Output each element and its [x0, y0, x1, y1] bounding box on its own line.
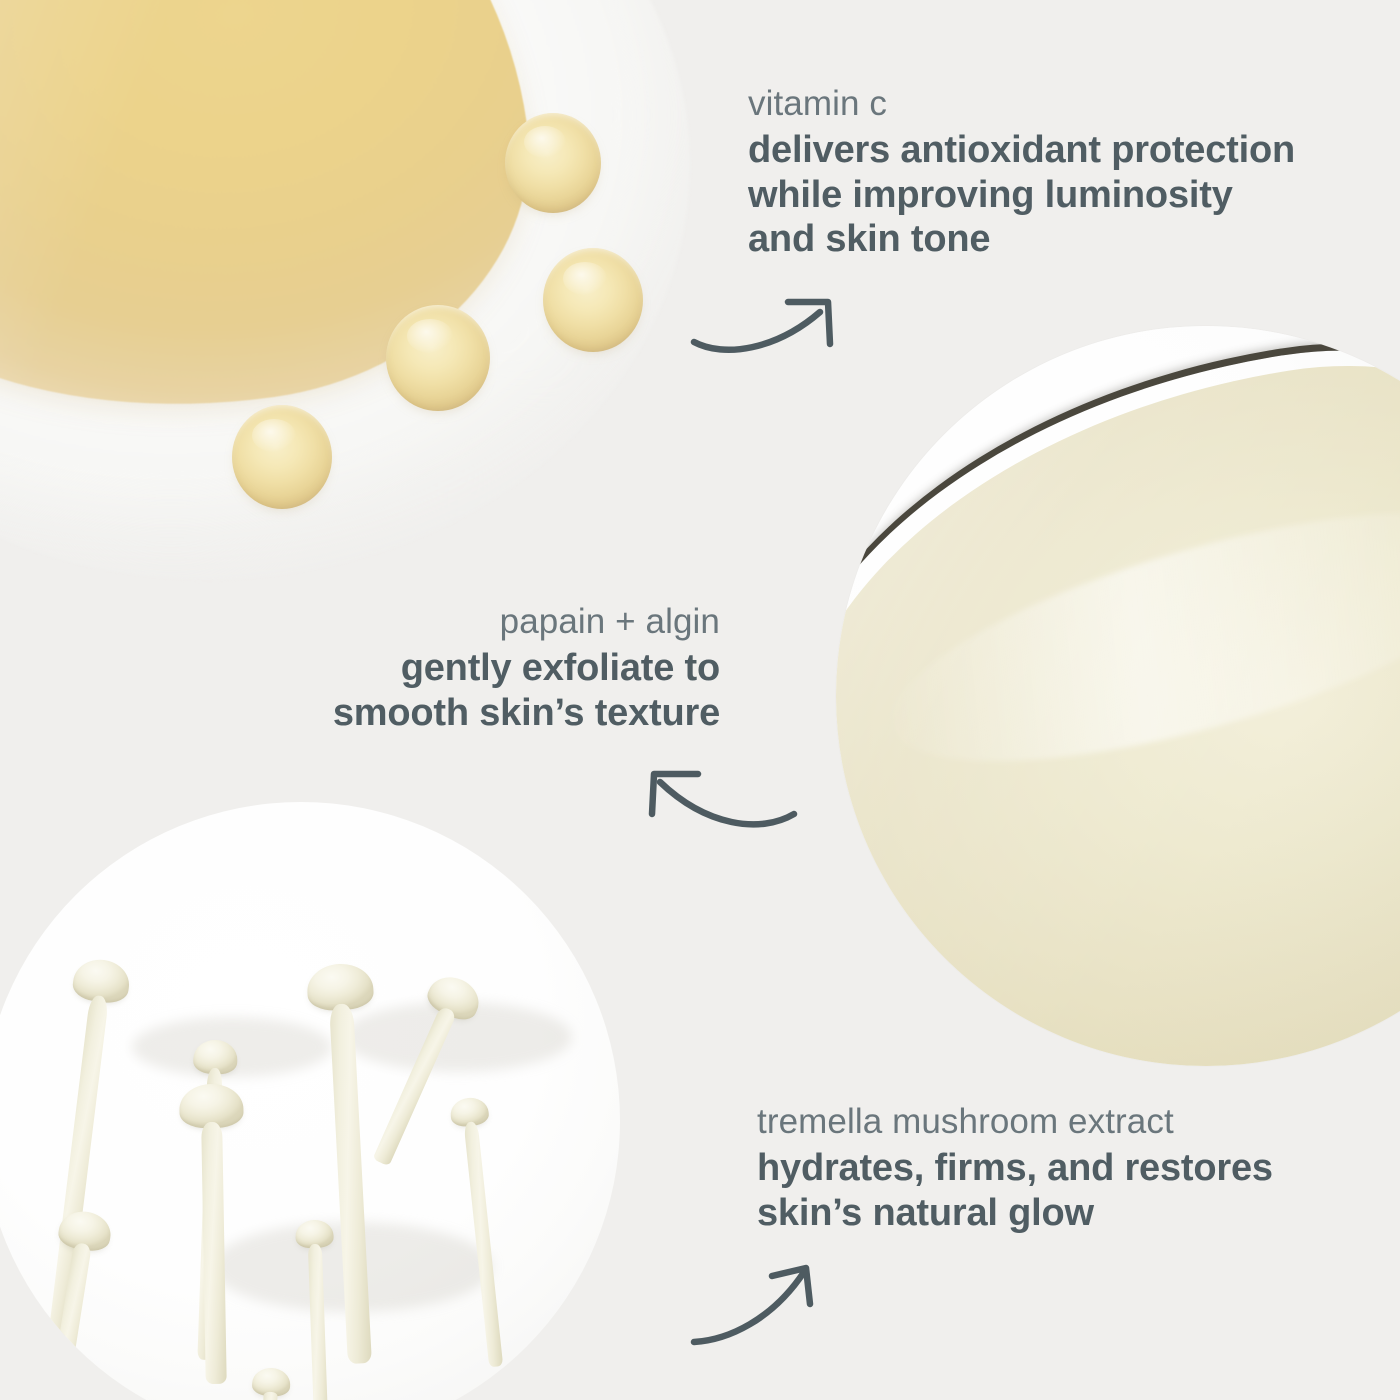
- tremella-mushroom-photo: [0, 802, 620, 1400]
- gel-droplet: [505, 113, 601, 213]
- headline-line: while improving luminosity: [748, 173, 1368, 217]
- infographic-canvas: vitamin c delivers antioxidant protectio…: [0, 0, 1400, 1400]
- gel-droplet: [543, 248, 643, 352]
- ingredient-headline: delivers antioxidant protection while im…: [748, 128, 1368, 261]
- headline-line: skin’s natural glow: [757, 1191, 1357, 1235]
- mushroom-stem: [201, 1122, 227, 1384]
- ingredient-block-papain-algin: papain + algin gently exfoliate to smoot…: [250, 602, 720, 735]
- headline-line: smooth skin’s texture: [250, 691, 720, 735]
- curved-arrow-up-right-icon: [688, 1242, 898, 1352]
- mushroom: [245, 1367, 294, 1400]
- gel-droplet: [232, 405, 332, 509]
- ingredient-label: papain + algin: [250, 602, 720, 641]
- headline-line: gently exfoliate to: [250, 646, 720, 690]
- cream-texture-swatch: [836, 326, 1400, 1066]
- mushroom-stem: [43, 1242, 92, 1400]
- gel-droplet: [386, 305, 490, 411]
- curved-arrow-up-right-icon: [680, 278, 880, 378]
- ingredient-headline: gently exfoliate to smooth skin’s textur…: [250, 646, 720, 735]
- curved-arrow-up-left-icon: [618, 752, 818, 852]
- ingredient-label: vitamin c: [748, 84, 1368, 123]
- ingredient-label: tremella mushroom extract: [757, 1102, 1357, 1141]
- mushroom: [292, 1219, 344, 1400]
- ingredient-block-vitamin-c: vitamin c delivers antioxidant protectio…: [748, 84, 1368, 262]
- mushroom: [176, 1083, 251, 1384]
- headline-line: and skin tone: [748, 217, 1368, 261]
- ingredient-block-tremella: tremella mushroom extract hydrates, firm…: [757, 1102, 1357, 1235]
- ingredient-headline: hydrates, firms, and restores skin’s nat…: [757, 1146, 1357, 1235]
- mushroom: [446, 1096, 518, 1369]
- mushroom-stem: [308, 1244, 329, 1400]
- mushroom-stem: [464, 1121, 504, 1367]
- headline-line: hydrates, firms, and restores: [757, 1146, 1357, 1190]
- headline-line: delivers antioxidant protection: [748, 128, 1368, 172]
